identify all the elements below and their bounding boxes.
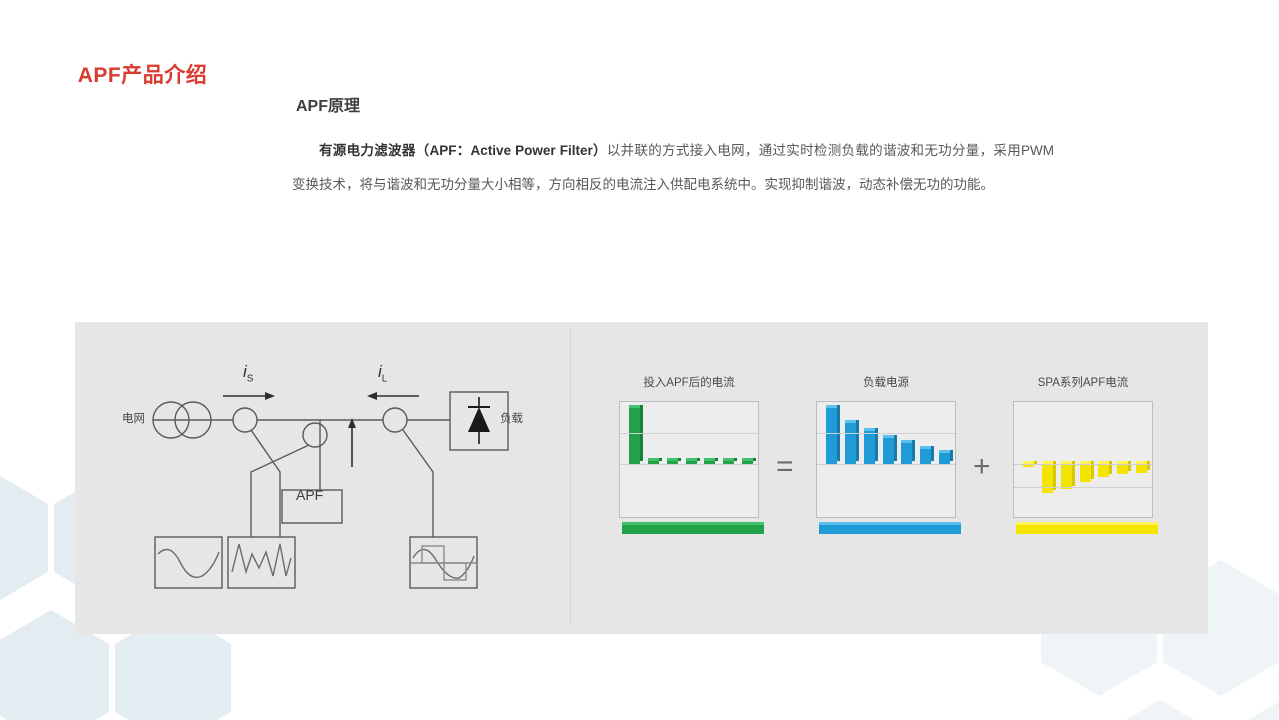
charts-area: 投入APF后的电流 = 负载电源 + SPA系列APF电流 bbox=[571, 322, 1208, 634]
chart-title-2: SPA系列APF电流 bbox=[1013, 374, 1153, 390]
zero-axis bbox=[817, 464, 955, 465]
apf-box-label: APF bbox=[296, 487, 323, 503]
zero-axis bbox=[1014, 464, 1152, 465]
bar bbox=[1080, 464, 1091, 482]
gridline bbox=[1014, 487, 1152, 488]
bar bbox=[826, 408, 837, 464]
chart-apf-output-current: 投入APF后的电流 bbox=[619, 374, 759, 518]
plot-0 bbox=[619, 401, 759, 518]
intro-card-body-bold: 有源电力滤波器（APF：Active Power Filter） bbox=[319, 143, 607, 158]
bar bbox=[1098, 464, 1109, 477]
chart-load-source: 负载电源 bbox=[816, 374, 956, 518]
bar bbox=[629, 408, 640, 464]
operator-plus: + bbox=[973, 452, 991, 482]
load-current-label: iL bbox=[378, 362, 387, 384]
diode-icon bbox=[468, 397, 490, 444]
chart-title-0: 投入APF后的电流 bbox=[619, 374, 759, 390]
chart-spa-apf-current: SPA系列APF电流 bbox=[1013, 374, 1153, 518]
intro-card-body: 有源电力滤波器（APF：Active Power Filter）以并联的方式接入… bbox=[292, 134, 1054, 203]
source-current-label: iS bbox=[243, 362, 253, 384]
chart-title-1: 负载电源 bbox=[816, 374, 956, 390]
plot-2 bbox=[1013, 401, 1153, 518]
baseplate-0 bbox=[622, 525, 764, 534]
grid-label: 电网 bbox=[122, 410, 145, 426]
bar bbox=[883, 438, 894, 464]
bar bbox=[864, 431, 875, 464]
bars-0 bbox=[620, 402, 758, 517]
load-label: 负载 bbox=[500, 410, 523, 426]
page-title: APF产品介绍 bbox=[78, 59, 208, 89]
baseplate-1 bbox=[819, 525, 961, 534]
baseplate-2 bbox=[1016, 525, 1158, 534]
bars-1 bbox=[817, 402, 955, 517]
gridline bbox=[620, 433, 758, 434]
source-current-arrow-icon bbox=[223, 392, 275, 400]
bar bbox=[920, 449, 931, 464]
bar bbox=[1117, 464, 1128, 474]
bar bbox=[845, 423, 856, 464]
circuit-schematic-svg bbox=[75, 322, 570, 634]
load-current-subscript: L bbox=[382, 373, 388, 384]
bars-2 bbox=[1014, 402, 1152, 517]
bar bbox=[901, 443, 912, 464]
bar bbox=[1136, 464, 1147, 473]
bar bbox=[1042, 464, 1053, 493]
slide-title-chip: APF产品介绍 bbox=[55, 50, 230, 97]
apf-inject-arrow-icon bbox=[348, 418, 356, 467]
intro-card-heading: APF原理 bbox=[296, 92, 1054, 116]
plot-1 bbox=[816, 401, 956, 518]
load-current-arrow-icon bbox=[367, 392, 419, 400]
zero-axis bbox=[620, 464, 758, 465]
circuit-diagram: 电网 负载 APF iS iL bbox=[75, 322, 570, 634]
intro-card: APF原理 有源电力滤波器（APF：Active Power Filter）以并… bbox=[258, 70, 1080, 240]
gridline bbox=[817, 433, 955, 434]
bar bbox=[939, 453, 950, 464]
operator-equals: = bbox=[776, 452, 794, 482]
source-current-subscript: S bbox=[247, 373, 254, 384]
diagram-panel: 电网 负载 APF iS iL 投入APF后的电流 = 负载电源 bbox=[75, 322, 1208, 634]
